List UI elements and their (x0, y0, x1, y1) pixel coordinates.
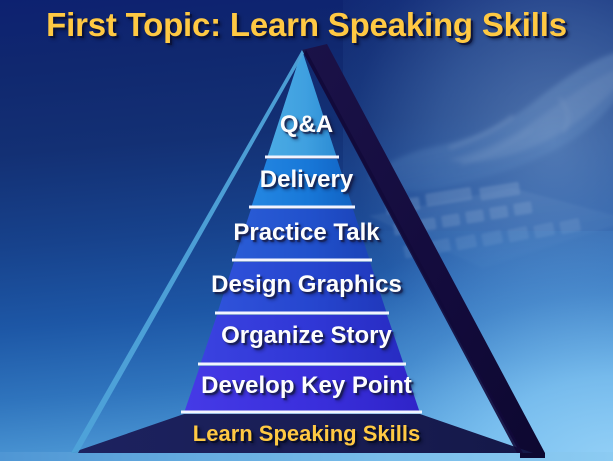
page-title: First Topic: Learn Speaking Skills (0, 6, 613, 44)
pyramid-level-7-label[interactable]: Learn Speaking Skills (0, 421, 613, 447)
pyramid-level-5-label[interactable]: Organize Story (0, 322, 613, 350)
pyramid-level-6-label[interactable]: Develop Key Point (0, 372, 613, 400)
slide-canvas: First Topic: Learn Speaking Skills (0, 0, 613, 461)
pyramid-level-4-label[interactable]: Design Graphics (0, 271, 613, 299)
pyramid-level-1-label[interactable]: Q&A (0, 111, 613, 139)
pyramid-level-2-label[interactable]: Delivery (0, 166, 613, 194)
pyramid-level-3-label[interactable]: Practice Talk (0, 219, 613, 247)
